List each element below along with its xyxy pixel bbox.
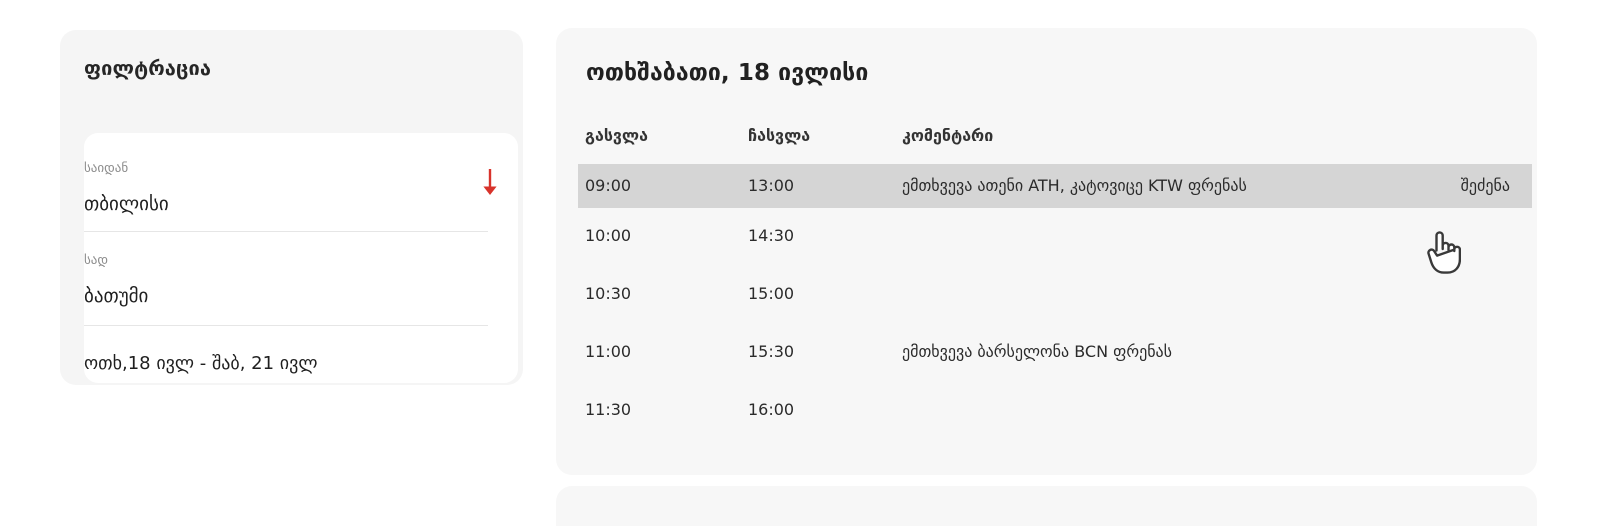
origin-field-label: საიდან — [84, 161, 128, 176]
table-header-row: გასვლა ჩასვლა კომენტარი — [556, 126, 1537, 164]
cell-departure: 09:00 — [585, 176, 631, 195]
schedule-panel: ოთხშაბათი, 18 ივლისი გასვლა ჩასვლა კომენ… — [556, 28, 1537, 475]
cell-departure: 11:30 — [585, 400, 631, 419]
origin-field-divider — [84, 231, 488, 232]
cell-arrival: 13:00 — [748, 176, 794, 195]
filter-fields-card: საიდან თბილისი სად ბათუმი ოთხ,18 ივლ - შ… — [84, 133, 518, 383]
origin-field-value[interactable]: თბილისი — [84, 193, 169, 215]
schedule-table: გასვლა ჩასვლა კომენტარი 09:00 13:00 ემთხ… — [556, 126, 1537, 440]
cell-departure: 10:00 — [585, 226, 631, 245]
cell-departure: 11:00 — [585, 342, 631, 361]
filter-panel: ფილტრაცია საიდან თბილისი სად ბათუმი — [60, 30, 523, 385]
page-root: ფილტრაცია საიდან თბილისი სად ბათუმი — [0, 0, 1604, 526]
table-row[interactable]: 10:00 14:30 — [556, 208, 1537, 266]
cell-arrival: 16:00 — [748, 400, 794, 419]
cell-comment: ემთხვევა ათენი ATH, კატოვიცე KTW ფრენას — [902, 176, 1247, 195]
destination-field-label: სად — [84, 253, 108, 268]
schedule-date-title: ოთხშაბათი, 18 ივლისი — [586, 60, 868, 86]
table-row[interactable]: 10:30 15:00 — [556, 266, 1537, 324]
arrow-down-icon[interactable] — [480, 168, 500, 198]
next-day-panel[interactable] — [556, 486, 1537, 526]
column-header-comment: კომენტარი — [902, 126, 993, 145]
column-header-arrival: ჩასვლა — [748, 126, 810, 145]
destination-field-value[interactable]: ბათუმი — [84, 285, 148, 307]
cell-arrival: 14:30 — [748, 226, 794, 245]
table-row[interactable]: 11:00 15:30 ემთხვევა ბარსელონა BCN ფრენა… — [556, 324, 1537, 382]
purchase-button[interactable]: შეძენა — [1461, 176, 1510, 195]
filter-panel-title: ფილტრაცია — [84, 56, 211, 80]
destination-field-divider — [84, 325, 488, 326]
cell-arrival: 15:00 — [748, 284, 794, 303]
column-header-departure: გასვლა — [585, 126, 648, 145]
table-row[interactable]: 09:00 13:00 ემთხვევა ათენი ATH, კატოვიცე… — [578, 164, 1532, 208]
date-range-field[interactable]: ოთხ,18 ივლ - შაბ, 21 ივლ — [84, 353, 318, 374]
table-row[interactable]: 11:30 16:00 — [556, 382, 1537, 440]
cell-departure: 10:30 — [585, 284, 631, 303]
cell-comment: ემთხვევა ბარსელონა BCN ფრენას — [902, 342, 1172, 361]
cell-arrival: 15:30 — [748, 342, 794, 361]
